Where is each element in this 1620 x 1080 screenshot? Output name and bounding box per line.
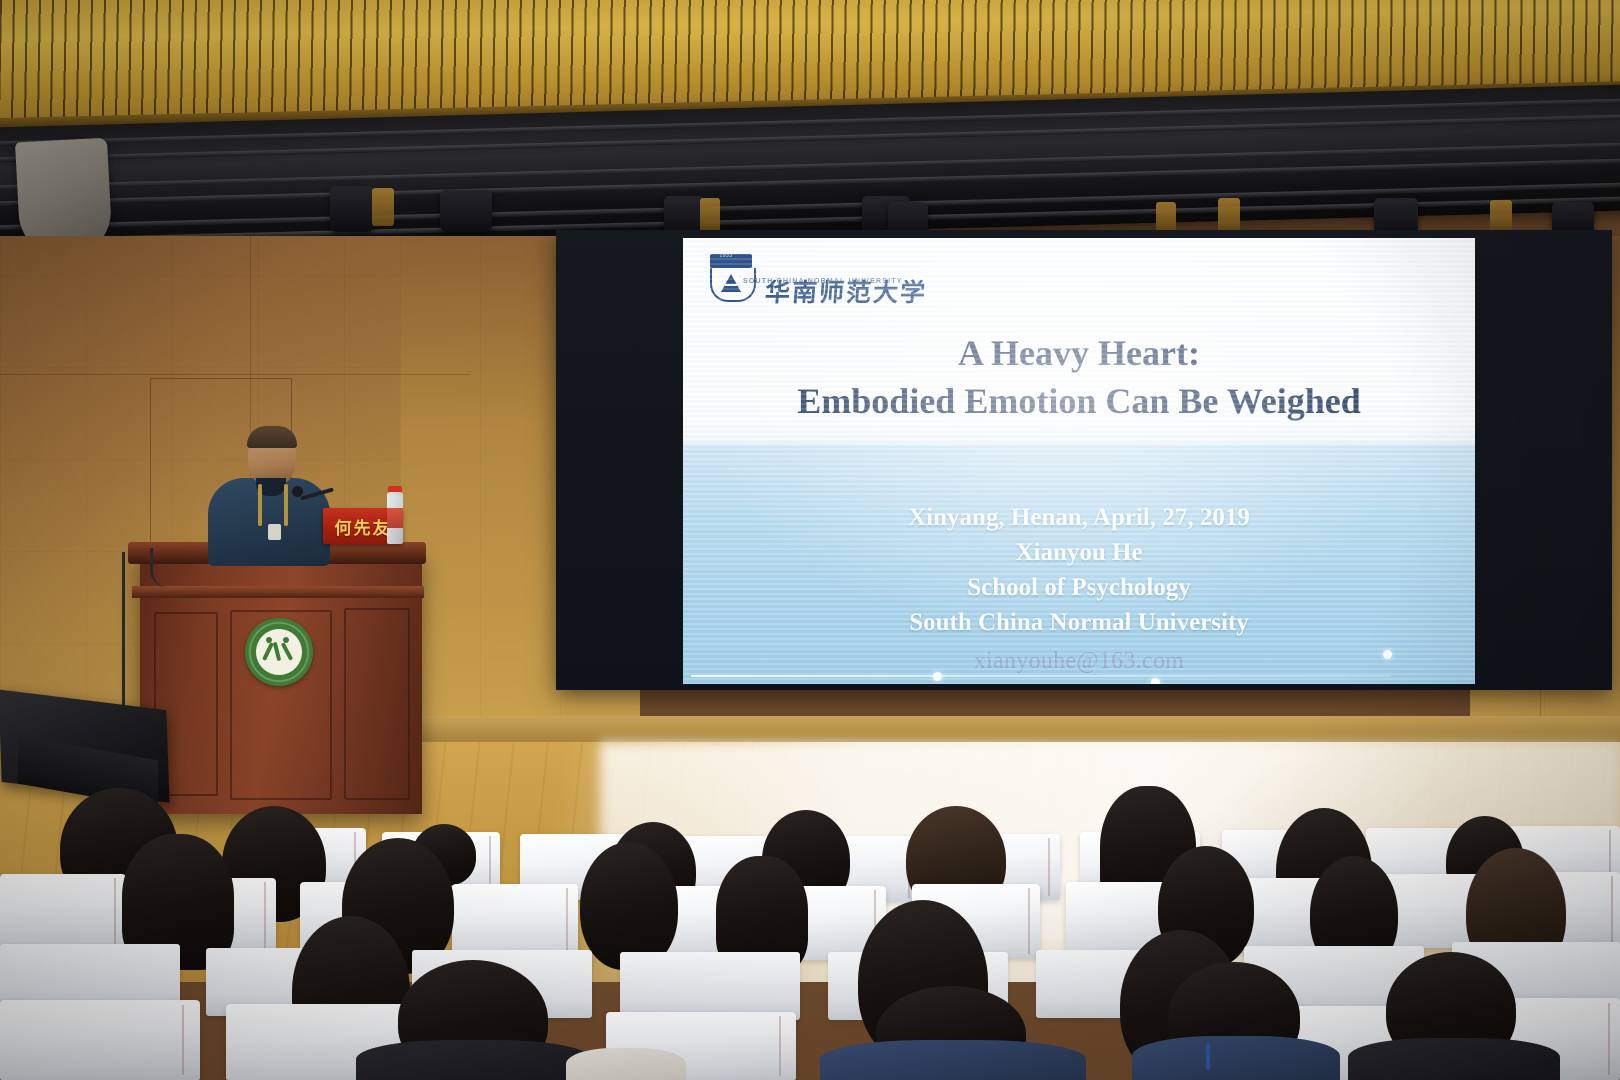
lanyard-strap: [1206, 1044, 1210, 1070]
audience-shoulders: [356, 1040, 592, 1080]
audience-shoulders: [820, 1040, 1086, 1080]
audience-shoulders: [1132, 1036, 1340, 1080]
auditorium-photo: 1933 华南师范大学 SOUTH CHINA NORMAL UNIVERSIT…: [0, 0, 1620, 1080]
audience-area: [0, 0, 1620, 1080]
chair-back: [0, 1000, 200, 1080]
audience-shoulders: [1348, 1038, 1560, 1080]
audience-shoulders: [566, 1048, 686, 1080]
chair-back: [0, 874, 126, 948]
audience-head: [580, 842, 678, 970]
chair-back: [452, 884, 578, 958]
chair-seat: [620, 952, 800, 1020]
